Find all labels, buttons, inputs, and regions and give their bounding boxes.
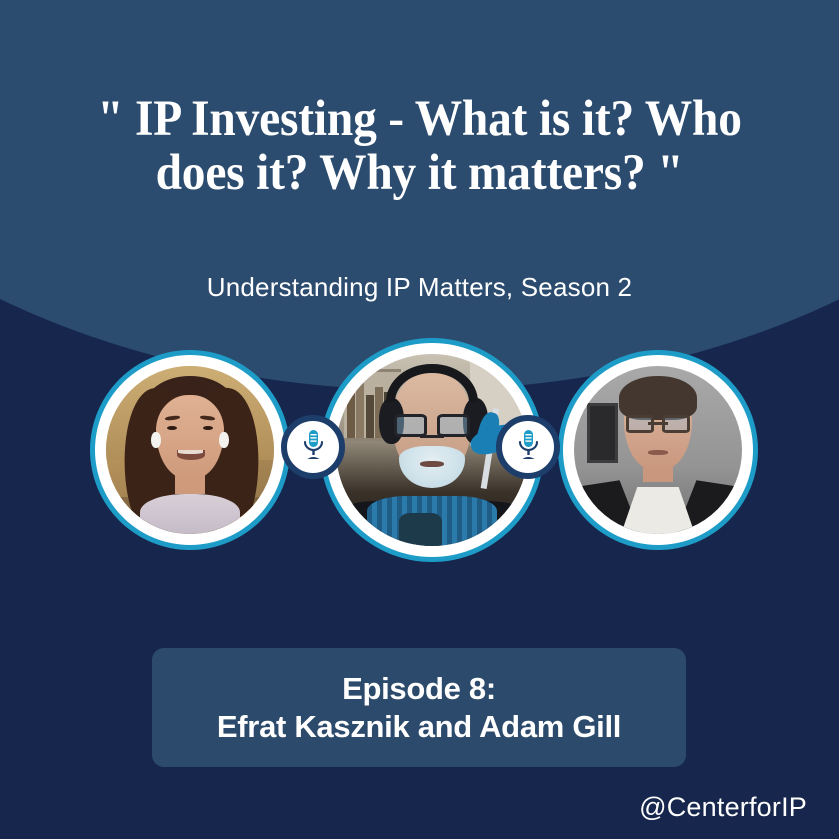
speaker-avatar-row <box>0 338 839 560</box>
page-title: " IP Investing - What is it? Who does it… <box>29 92 809 200</box>
microphone-icon <box>513 428 543 467</box>
avatar-photo-left <box>106 366 274 534</box>
podcast-promo-poster: " IP Investing - What is it? Who does it… <box>0 0 839 839</box>
avatar-white-ring <box>563 355 753 545</box>
social-handle: @CenterforIP <box>639 792 807 823</box>
avatar-speaker-right <box>558 350 758 550</box>
avatar-photo-right <box>574 366 742 534</box>
episode-info-box: Episode 8: Efrat Kasznik and Adam Gill <box>152 648 686 767</box>
microphone-icon <box>298 428 328 467</box>
avatar-white-ring <box>95 355 285 545</box>
episode-guests: Efrat Kasznik and Adam Gill <box>217 709 621 745</box>
episode-number: Episode 8: <box>342 671 496 707</box>
avatar-speaker-left <box>90 350 290 550</box>
microphone-badge-left <box>281 415 345 479</box>
series-subtitle: Understanding IP Matters, Season 2 <box>0 272 839 303</box>
microphone-badge-right <box>496 415 560 479</box>
